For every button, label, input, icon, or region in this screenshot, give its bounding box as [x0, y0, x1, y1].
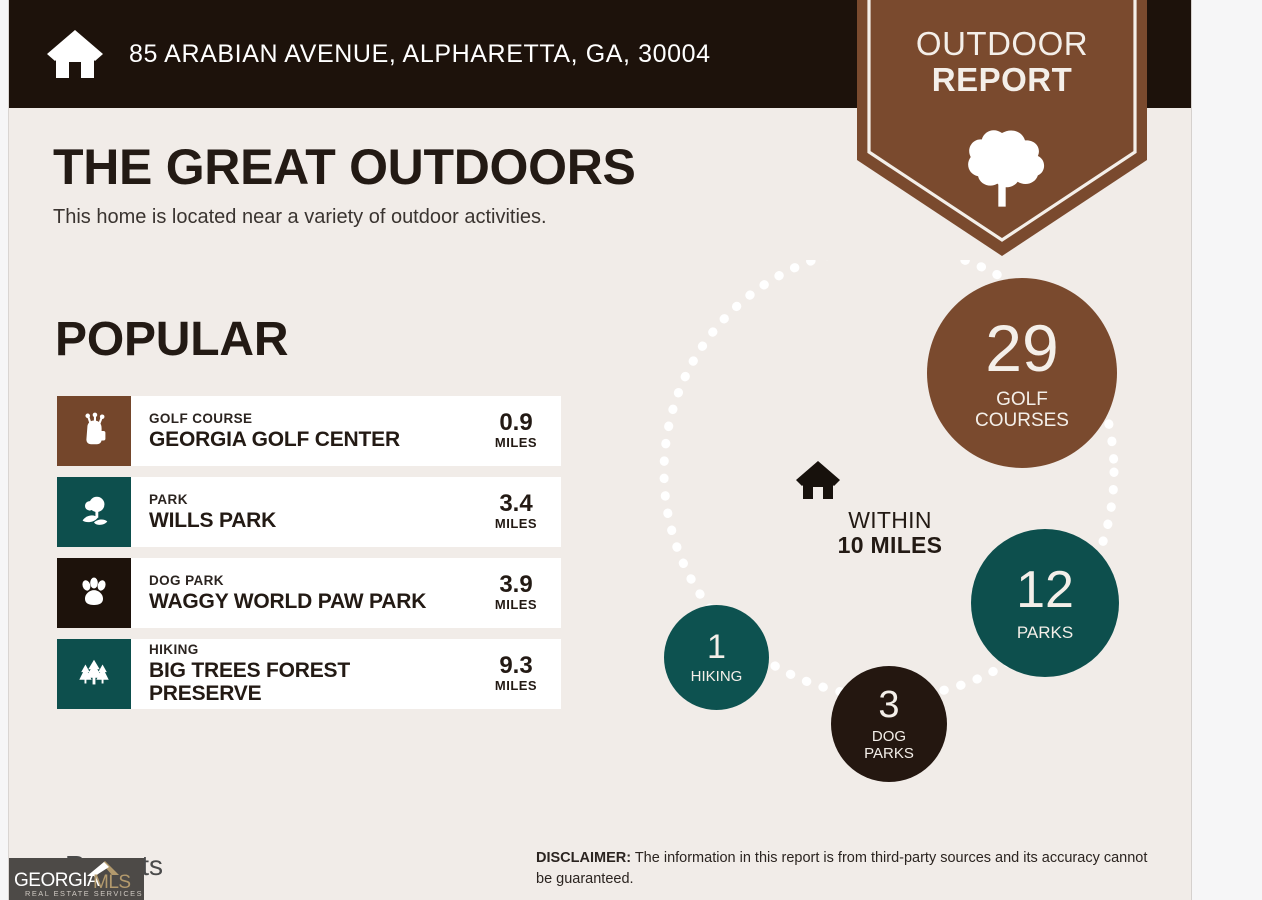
intro-block: THE GREAT OUTDOORS This home is located … — [53, 140, 636, 229]
outdoor-report-page: 85 ARABIAN AVENUE, ALPHARETTA, GA, 30004… — [0, 0, 1262, 900]
property-address: 85 ARABIAN AVENUE, ALPHARETTA, GA, 30004 — [129, 40, 711, 69]
list-item-distance: 3.4 MILES — [477, 492, 561, 533]
distance-unit: MILES — [485, 435, 547, 452]
bubble-label: DOG PARKS — [857, 729, 921, 763]
bubble-label: GOLF COURSES — [962, 389, 1082, 432]
list-item-distance: 9.3 MILES — [477, 654, 561, 695]
list-item-category: PARK — [149, 492, 477, 509]
parks-bubble[interactable]: 12 PARKS — [971, 529, 1119, 677]
list-item-category: DOG PARK — [149, 573, 477, 590]
distance-unit: MILES — [485, 516, 547, 533]
bubble-value: 3 — [878, 686, 899, 724]
hiking-bubble[interactable]: 1 HIKING — [664, 605, 769, 710]
outdoor-report-badge: OUTDOOR REPORT — [857, 0, 1147, 256]
bubble-value: 12 — [1016, 564, 1074, 616]
radial-summary-diagram: 29 GOLF COURSES 12 PARKS 3 DOG PARKS 1 H… — [609, 260, 1169, 820]
disclaimer: DISCLAIMER: The information in this repo… — [536, 848, 1161, 889]
center-line2: 10 MILES — [795, 533, 985, 558]
list-item[interactable]: GOLF COURSE GEORGIA GOLF CENTER 0.9 MILE… — [57, 396, 561, 466]
list-item[interactable]: PARK WILLS PARK 3.4 MILES — [57, 477, 561, 547]
distance-unit: MILES — [485, 678, 547, 695]
distance-unit: MILES — [485, 597, 547, 614]
disclaimer-label: DISCLAIMER: — [536, 850, 631, 866]
list-item[interactable]: DOG PARK WAGGY WORLD PAW PARK 3.9 MILES — [57, 558, 561, 628]
center-line1: WITHIN — [795, 508, 985, 533]
dog-parks-bubble[interactable]: 3 DOG PARKS — [831, 666, 947, 782]
list-item-name: GEORGIA GOLF CENTER — [149, 428, 477, 452]
popular-section-title: POPULAR — [55, 312, 288, 367]
park-trees-icon — [57, 477, 131, 547]
svg-text:REAL ESTATE SERVICES: REAL ESTATE SERVICES — [25, 889, 143, 898]
golf-bag-icon — [57, 396, 131, 466]
page-title: THE GREAT OUTDOORS — [53, 140, 636, 194]
bubble-value: 1 — [707, 630, 726, 664]
paw-print-icon — [57, 558, 131, 628]
distance-value: 9.3 — [485, 654, 547, 678]
distance-value: 3.4 — [485, 492, 547, 516]
pine-trees-icon — [57, 639, 131, 709]
list-item-name: WILLS PARK — [149, 509, 477, 533]
list-item-distance: 0.9 MILES — [477, 411, 561, 452]
list-item-body: DOG PARK WAGGY WORLD PAW PARK 3.9 MILES — [131, 558, 561, 628]
georgia-mls-logo: GEORGIA MLS REAL ESTATE SERVICES — [9, 858, 144, 900]
home-icon — [867, 460, 913, 500]
distance-value: 0.9 — [485, 411, 547, 435]
list-item-name: BIG TREES FOREST PRESERVE — [149, 659, 399, 706]
list-item-body: GOLF COURSE GEORGIA GOLF CENTER 0.9 MILE… — [131, 396, 561, 466]
bubble-label: PARKS — [1017, 623, 1073, 642]
home-icon — [45, 28, 105, 80]
list-item-body: PARK WILLS PARK 3.4 MILES — [131, 477, 561, 547]
bubble-value: 29 — [985, 315, 1058, 381]
popular-list: GOLF COURSE GEORGIA GOLF CENTER 0.9 MILE… — [57, 396, 561, 720]
list-item-name: WAGGY WORLD PAW PARK — [149, 590, 477, 614]
golf-courses-bubble[interactable]: 29 GOLF COURSES — [927, 278, 1117, 468]
report-sheet: 85 ARABIAN AVENUE, ALPHARETTA, GA, 30004… — [8, 0, 1192, 900]
list-item-category: GOLF COURSE — [149, 411, 477, 428]
distance-value: 3.9 — [485, 573, 547, 597]
list-item-body: HIKING BIG TREES FOREST PRESERVE 9.3 MIL… — [131, 639, 561, 709]
bubble-label: HIKING — [691, 669, 743, 686]
list-item[interactable]: HIKING BIG TREES FOREST PRESERVE 9.3 MIL… — [57, 639, 561, 709]
list-item-category: HIKING — [149, 642, 477, 659]
svg-text:GEORGIA: GEORGIA — [14, 870, 100, 891]
page-subtitle: This home is located near a variety of o… — [53, 206, 636, 229]
radial-center-label: WITHIN 10 MILES — [795, 460, 985, 559]
list-item-distance: 3.9 MILES — [477, 573, 561, 614]
